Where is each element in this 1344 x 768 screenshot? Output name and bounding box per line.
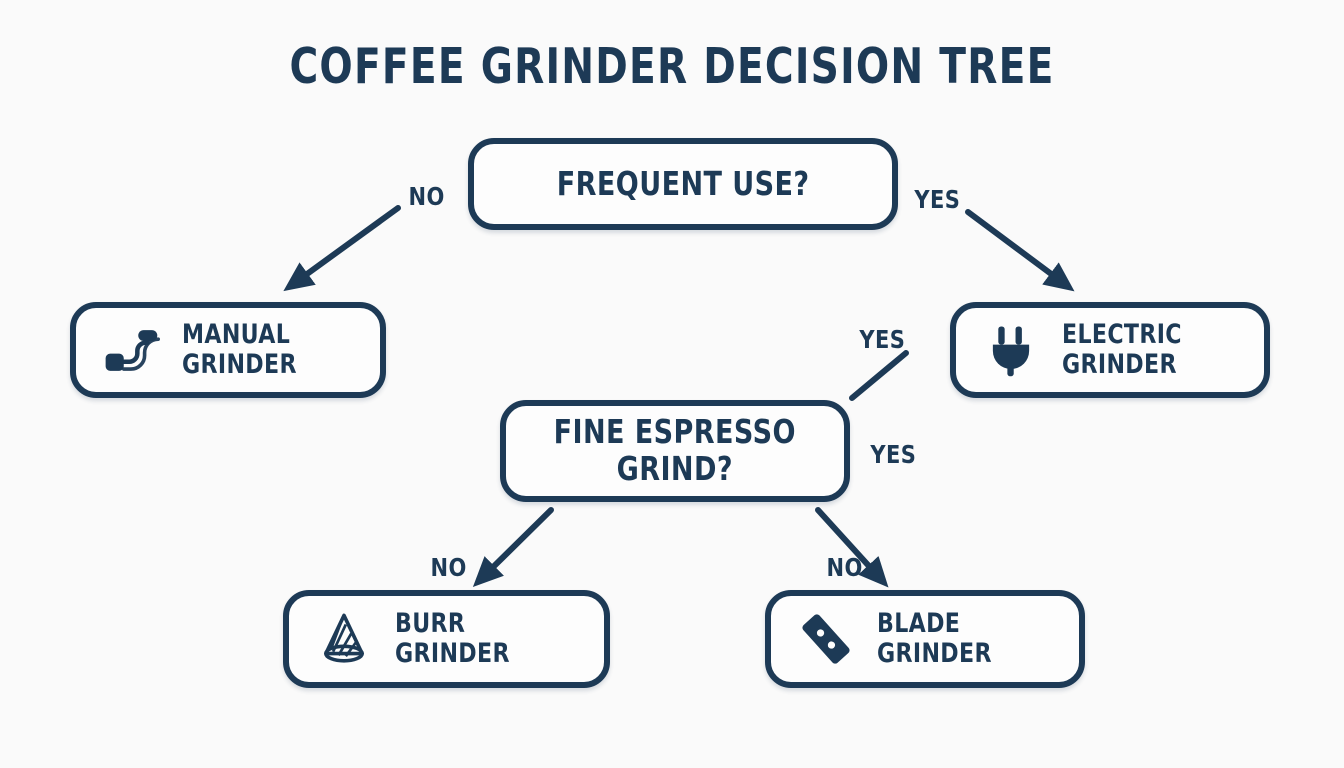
edge-label-frequent-use-yes: YES (914, 185, 960, 214)
edge-line-frequent-use-yes (968, 212, 1062, 282)
node-label-electric-grinder: ELECTRIC GRINDER (1062, 320, 1182, 380)
node-electric-grinder[interactable]: ELECTRIC GRINDER (950, 302, 1270, 398)
page-title: COFFEE GRINDER DECISION TREE (134, 38, 1209, 95)
node-blade-grinder[interactable]: BLADE GRINDER (765, 590, 1085, 688)
conical-burr-icon (315, 610, 373, 668)
power-plug-icon (982, 321, 1040, 379)
node-label-fine-espresso-grind: FINE ESPRESSO GRIND? (554, 414, 796, 488)
node-burr-grinder[interactable]: BURR GRINDER (283, 590, 610, 688)
edge-line-frequent-use-no (296, 208, 398, 282)
edge-line-electric-to-espresso-yes (852, 353, 906, 398)
node-label-frequent-use: FREQUENT USE? (557, 166, 810, 203)
edge-label-espresso-no-blade: NO (826, 553, 862, 582)
node-label-burr-grinder: BURR GRINDER (395, 609, 510, 669)
decision-tree-canvas: COFFEE GRINDER DECISION TREE FREQUENT US… (0, 0, 1344, 768)
edge-label-frequent-use-no: NO (408, 182, 444, 211)
node-label-manual-grinder: MANUAL GRINDER (182, 320, 297, 380)
edge-line-espresso-no-burr (484, 510, 551, 576)
razor-blade-icon (797, 610, 855, 668)
node-fine-espresso-grind[interactable]: FINE ESPRESSO GRIND? (500, 400, 850, 502)
node-frequent-use[interactable]: FREQUENT USE? (468, 138, 898, 230)
edge-label-espresso-no-burr: NO (430, 553, 466, 582)
edge-label-electric-to-espresso-yes: YES (859, 325, 905, 354)
edge-label-espresso-right-yes: YES (870, 440, 916, 469)
node-label-blade-grinder: BLADE GRINDER (877, 609, 992, 669)
hand-crank-icon (102, 321, 160, 379)
node-manual-grinder[interactable]: MANUAL GRINDER (70, 302, 386, 398)
